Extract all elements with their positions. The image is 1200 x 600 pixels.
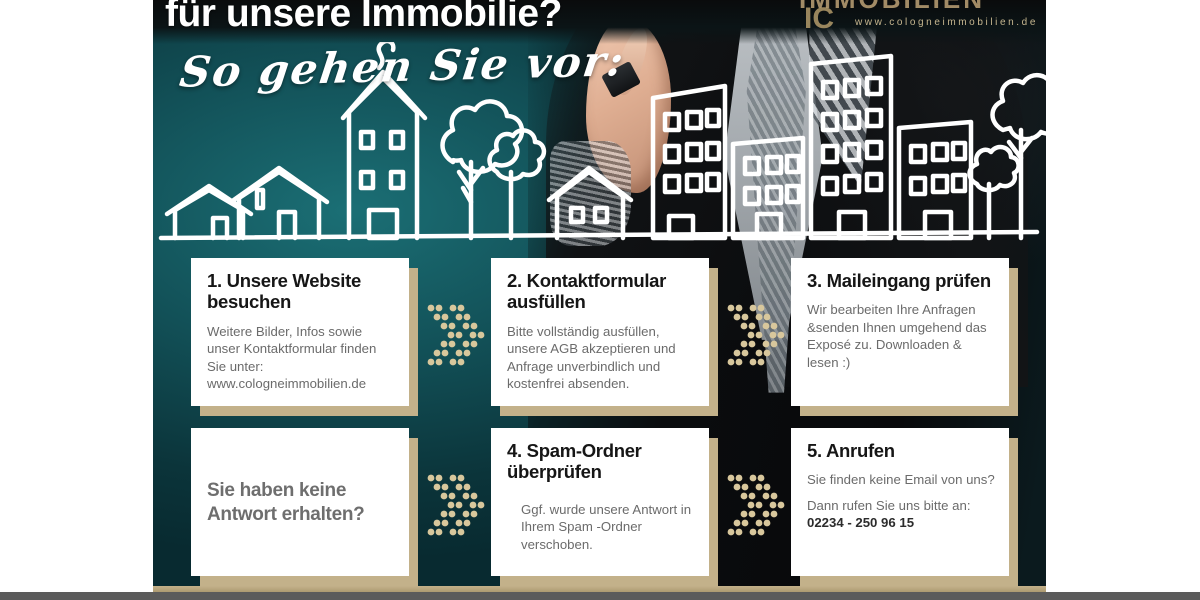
- arrow-1-to-2: [425, 298, 487, 376]
- step-title-4: 4. Spam-Ordner überprüfen: [507, 440, 695, 483]
- logo-wordmark: IMMOBILIEN: [799, 0, 1038, 15]
- step-body-2: Bitte vollständig ausfüllen, unsere AGB …: [507, 323, 695, 393]
- steps-grid: 1. Unsere Website besuchen Weitere Bilde…: [153, 250, 1046, 586]
- step-card-4[interactable]: 4. Spam-Ordner überprüfen Ggf. wurde uns…: [491, 428, 709, 576]
- step-body-3: Wir bearbeiten Ihre Anfragen &senden Ihn…: [807, 301, 995, 371]
- arrow-4-to-5: [725, 468, 787, 546]
- arrow-noanswer-to-4: [425, 468, 487, 546]
- screenshot-root: für unsere Immobilie? So gehen Sie vor: …: [0, 0, 1200, 600]
- step-cell-no-answer: Sie haben keine Antwort erhalten?: [191, 428, 409, 576]
- step-body-1: Weitere Bilder, Infos sowie unser Kontak…: [207, 323, 395, 393]
- step-card-1[interactable]: 1. Unsere Website besuchen Weitere Bilde…: [191, 258, 409, 406]
- company-logo: IMMOBILIEN www.cologneimmobilien.de: [799, 0, 1038, 28]
- infographic-image: für unsere Immobilie? So gehen Sie vor: …: [153, 0, 1046, 586]
- step-cell-3: 3. Maileingang prüfen Wir bearbeiten Ihr…: [791, 258, 1009, 406]
- step-cell-5: 5. Anrufen Sie finden keine Email von un…: [791, 428, 1009, 576]
- logo-website-url: www.cologneimmobilien.de: [855, 17, 1038, 28]
- step-card-5[interactable]: 5. Anrufen Sie finden keine Email von un…: [791, 428, 1009, 576]
- page-headline: für unsere Immobilie?: [165, 0, 562, 36]
- step-phone-label-5: Dann rufen Sie uns bitte an:: [807, 497, 995, 514]
- step-title-5: 5. Anrufen: [807, 440, 995, 461]
- no-answer-card[interactable]: Sie haben keine Antwort erhalten?: [191, 428, 409, 576]
- step-title-2: 2. Kontaktformular ausfüllen: [507, 270, 695, 313]
- step-cell-4: 4. Spam-Ordner überprüfen Ggf. wurde uns…: [491, 428, 709, 576]
- step-card-3[interactable]: 3. Maileingang prüfen Wir bearbeiten Ihr…: [791, 258, 1009, 406]
- step-body-5: Sie finden keine Email von uns?: [807, 471, 995, 488]
- step-cell-1: 1. Unsere Website besuchen Weitere Bilde…: [191, 258, 409, 406]
- no-answer-title: Sie haben keine Antwort erhalten?: [207, 479, 395, 527]
- phone-number[interactable]: 02234 - 250 96 15: [807, 515, 914, 530]
- logo-monogram-icon: IC: [804, 2, 834, 36]
- arrow-2-to-3: [725, 298, 787, 376]
- bottom-toolbar: [0, 592, 1200, 600]
- step-title-3: 3. Maileingang prüfen: [807, 270, 995, 291]
- step-cell-2: 2. Kontaktformular ausfüllen Bitte volls…: [491, 258, 709, 406]
- step-title-1: 1. Unsere Website besuchen: [207, 270, 395, 313]
- step-card-2[interactable]: 2. Kontaktformular ausfüllen Bitte volls…: [491, 258, 709, 406]
- step-body-4: Ggf. wurde unsere Antwort in Ihrem Spam …: [521, 501, 695, 553]
